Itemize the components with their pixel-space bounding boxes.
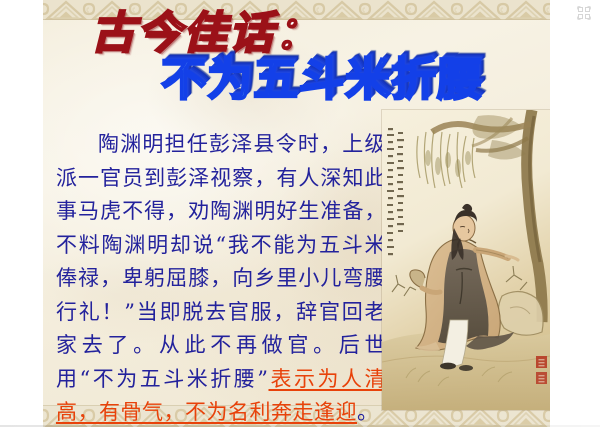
body-paragraph-tail: 。 bbox=[357, 400, 379, 424]
slide-title-secondary: 不为五斗米折腰 bbox=[161, 54, 483, 106]
slide-body-text: 陶渊明担任彭泽县令时，上级派一官员到彭泽视察，有人深知此事马虎不得，劝陶渊明好生… bbox=[56, 128, 386, 427]
body-paragraph-main: 陶渊明担任彭泽县令时，上级派一官员到彭泽视察，有人深知此事马虎不得，劝陶渊明好生… bbox=[56, 132, 386, 391]
fullscreen-expand-icon[interactable] bbox=[577, 5, 591, 19]
presentation-slide: 古今佳话： 不为五斗米折腰 陶渊明担任彭泽县令时，上级派一官员到彭泽视察，有人深… bbox=[43, 0, 550, 427]
slide-viewer: 古今佳话： 不为五斗米折腰 陶渊明担任彭泽县令时，上级派一官员到彭泽视察，有人深… bbox=[0, 0, 600, 427]
body-paragraph: 陶渊明担任彭泽县令时，上级派一官员到彭泽视察，有人深知此事马虎不得，劝陶渊明好生… bbox=[56, 128, 386, 427]
tao-yuanming-ink-painting bbox=[382, 110, 550, 410]
